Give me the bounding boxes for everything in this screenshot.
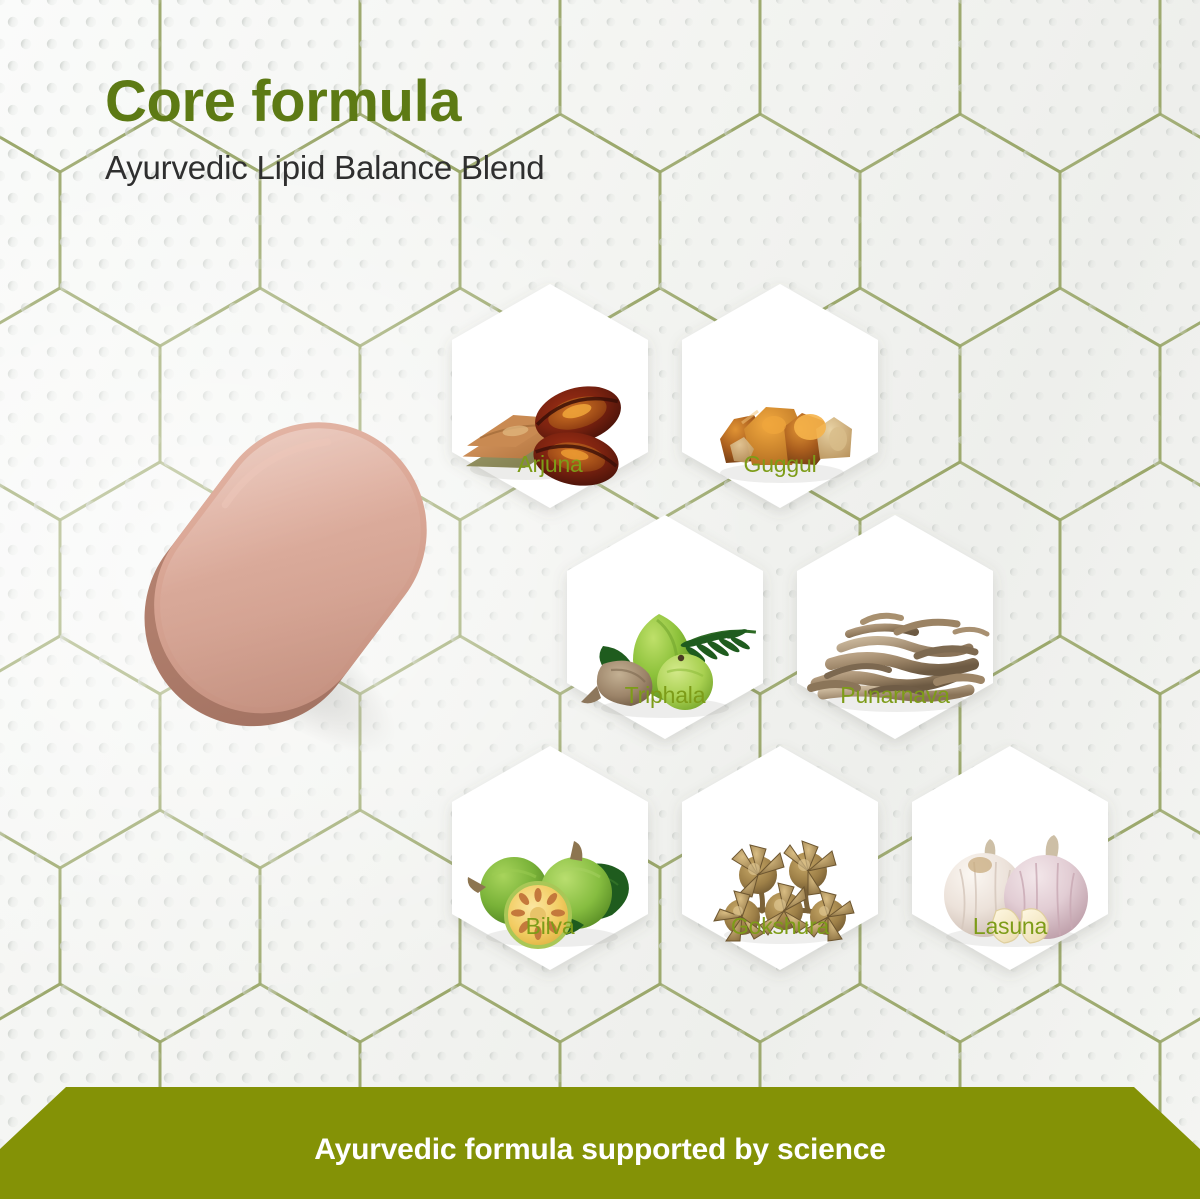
page-title: Core formula <box>105 72 544 133</box>
triphala-fruits-icon <box>567 545 763 769</box>
bottom-banner: Ayurvedic formula supported by science <box>0 1087 1200 1199</box>
product-tablet <box>96 404 468 754</box>
banner-text: Ayurvedic formula supported by science <box>314 1119 885 1167</box>
ingredient-hex-bilva[interactable]: Bilva <box>452 746 648 970</box>
header-block: Core formula Ayurvedic Lipid Balance Ble… <box>105 72 544 187</box>
ingredient-hex-gokshura[interactable]: Gokshura <box>682 746 878 970</box>
gokshura-fruit-icon <box>682 776 878 1000</box>
ingredient-hex-guggul[interactable]: Guggul <box>682 284 878 508</box>
punarnava-roots-icon <box>797 545 993 769</box>
page-subtitle: Ayurvedic Lipid Balance Blend <box>105 149 544 187</box>
infographic-canvas: Core formula Ayurvedic Lipid Balance Ble… <box>0 0 1200 1199</box>
lasuna-garlic-icon <box>912 776 1108 1000</box>
ingredient-hex-lasuna[interactable]: Lasuna <box>912 746 1108 970</box>
ingredient-hex-arjuna[interactable]: Arjuna <box>452 284 648 508</box>
guggul-resin-icon <box>682 314 878 538</box>
bilva-fruit-icon <box>452 776 648 1000</box>
ingredient-hex-punarnava[interactable]: Punarnava <box>797 515 993 739</box>
ingredient-hex-triphala[interactable]: Triphala <box>567 515 763 739</box>
tablet-illustration <box>96 404 468 754</box>
arjuna-bark-icon <box>452 314 648 538</box>
